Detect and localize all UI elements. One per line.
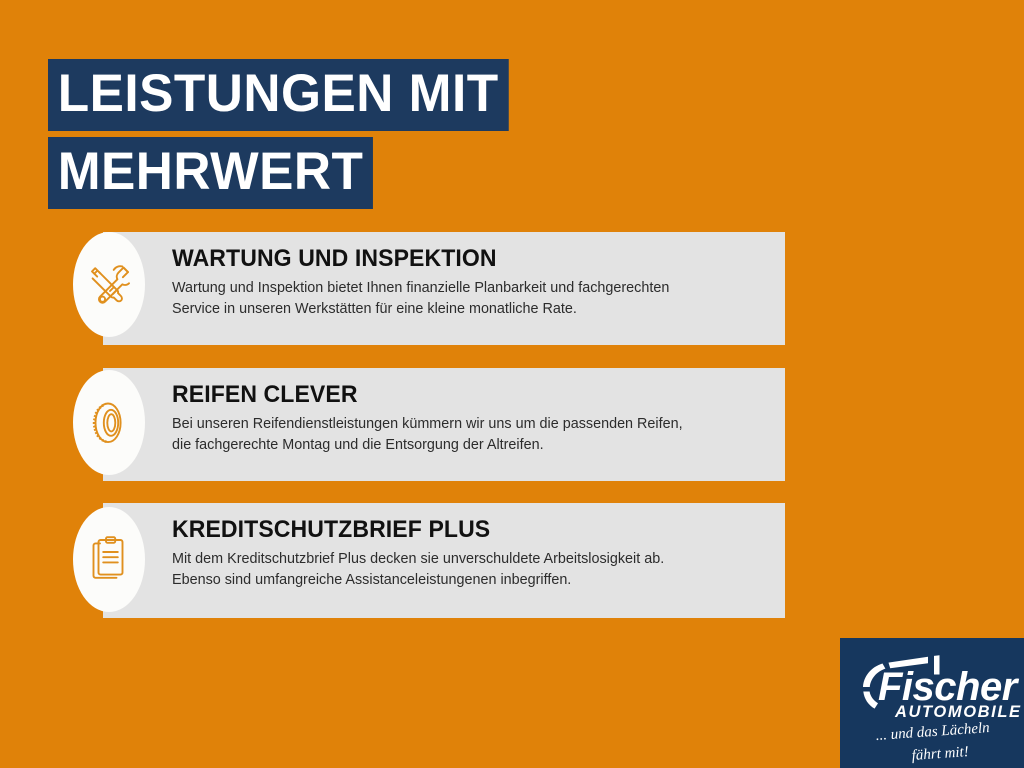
- logo-tagline: ... und das Lächeln fährt mit!: [874, 718, 1022, 766]
- fischer-automobile-logo: Fischer AUTOMOBILE ... und das Lächeln f…: [840, 638, 1024, 768]
- logo-tagline-line-1: ... und das Lächeln: [875, 720, 990, 744]
- title-line-1: LEISTUNGEN MIT: [48, 59, 508, 131]
- wrench-screwdriver-icon: [84, 260, 134, 310]
- logo-wordmark: Fischer AUTOMOBILE: [848, 643, 1024, 723]
- card-text: KREDITSCHUTZBRIEF PLUS Mit dem Kreditsch…: [172, 517, 769, 592]
- card-heading: WARTUNG UND INSPEKTION: [172, 246, 745, 271]
- card-body: Mit dem Kreditschutzbrief Plus decken si…: [172, 549, 760, 591]
- card-body: Wartung und Inspektion bietet Ihnen fina…: [172, 278, 760, 320]
- card-icon-badge: [73, 507, 145, 612]
- card-heading: REIFEN CLEVER: [172, 382, 745, 407]
- card-body: Bei unseren Reifendienstleistungen kümme…: [172, 414, 760, 456]
- slide-canvas: LEISTUNGEN MIT MEHRWERT WARTUNG UND INSP…: [0, 0, 1024, 768]
- card-text: REIFEN CLEVER Bei unseren Reifendienstle…: [172, 382, 769, 457]
- card-icon-badge: [73, 370, 145, 475]
- title-line-2: MEHRWERT: [48, 137, 373, 209]
- card-text: WARTUNG UND INSPEKTION Wartung und Inspe…: [172, 246, 769, 321]
- logo-tagline-line-2: fährt mit!: [911, 744, 969, 764]
- card-icon-badge: [73, 232, 145, 337]
- clipboard-icon: [85, 535, 133, 585]
- tire-icon: [84, 398, 134, 448]
- page-title: LEISTUNGEN MIT MEHRWERT: [48, 59, 608, 215]
- card-heading: KREDITSCHUTZBRIEF PLUS: [172, 517, 745, 542]
